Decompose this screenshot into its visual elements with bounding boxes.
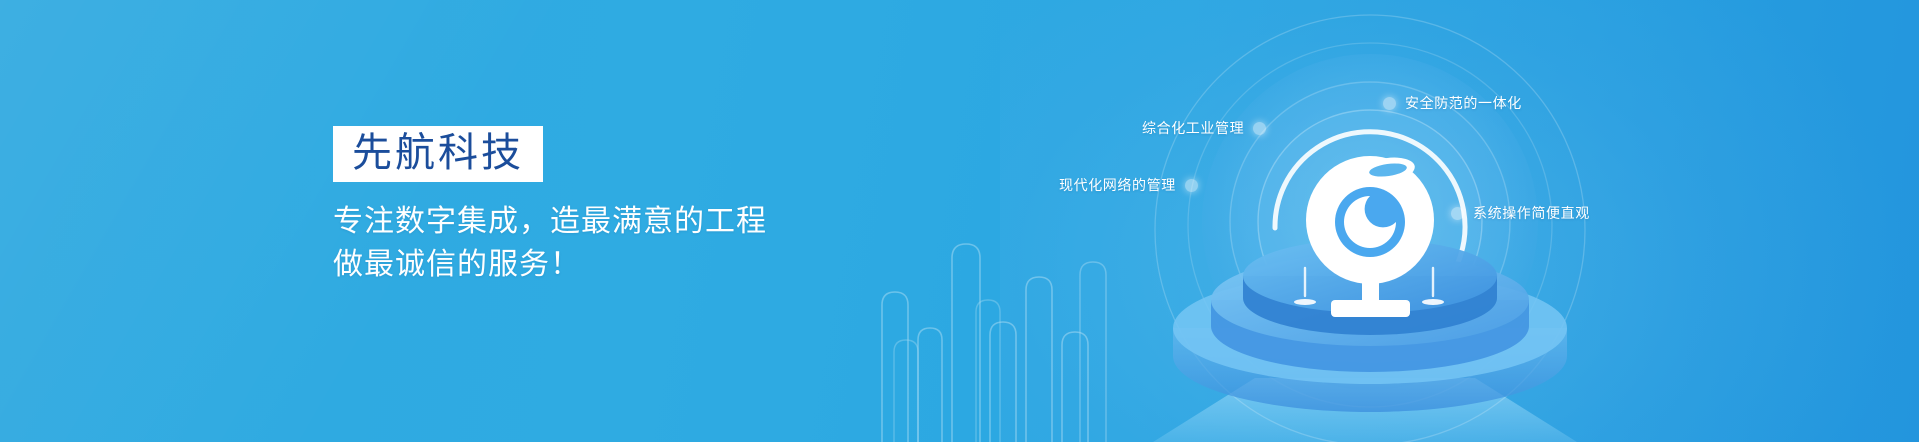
brand-title-box: 先航科技 — [333, 126, 543, 182]
layered-disc-pedestal — [1173, 239, 1567, 412]
brand-title: 先航科技 — [352, 130, 524, 176]
light-beam — [1153, 378, 1577, 442]
feature-label-industrial-management: 综合化工业管理 — [1142, 118, 1266, 138]
dot-marker-icon — [1253, 122, 1266, 135]
feature-label-text: 综合化工业管理 — [1142, 118, 1244, 138]
webcam-camera-icon — [1306, 154, 1434, 317]
feature-label-network-management: 现代化网络的管理 — [1059, 175, 1198, 195]
dot-marker-icon — [1451, 207, 1464, 220]
background-glow — [1000, 0, 1900, 442]
feature-label-easy-operation: 系统操作简便直观 — [1451, 203, 1590, 223]
concentric-arc-rings — [1155, 15, 1585, 442]
dot-marker-icon — [1185, 179, 1198, 192]
progress-arc — [1275, 132, 1465, 302]
dot-marker-icon — [1383, 97, 1396, 110]
pedestal-light-dots — [1294, 299, 1444, 309]
pedestal-light-streaks — [1305, 268, 1433, 300]
hero-banner: 先航科技 专注数字集成，造最满意的工程 做最诚信的服务！ 安全防范的一体化 综合… — [0, 0, 1919, 442]
feature-label-security-integration: 安全防范的一体化 — [1383, 93, 1522, 113]
hero-subtitle-line-1: 专注数字集成，造最满意的工程 — [333, 201, 973, 244]
hero-subtitle-line-2: 做最诚信的服务！ — [333, 244, 973, 287]
feature-label-text: 系统操作简便直观 — [1473, 203, 1590, 223]
hero-subtitle: 专注数字集成，造最满意的工程 做最诚信的服务！ — [333, 201, 973, 286]
feature-label-text: 安全防范的一体化 — [1405, 93, 1522, 113]
orb-glow-inner — [1258, 110, 1482, 334]
hero-text-block: 先航科技 专注数字集成，造最满意的工程 做最诚信的服务！ — [333, 126, 973, 286]
feature-label-text: 现代化网络的管理 — [1059, 175, 1176, 195]
